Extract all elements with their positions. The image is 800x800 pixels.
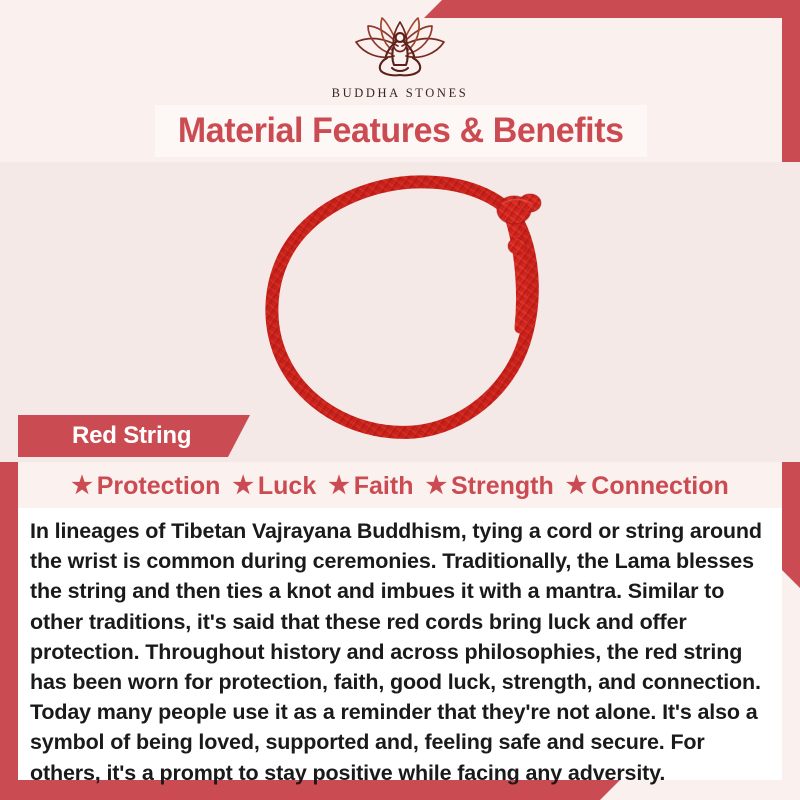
benefit-item-faith: ★ Faith xyxy=(323,472,418,501)
description-panel: In lineages of Tibetan Vajrayana Buddhis… xyxy=(18,508,782,780)
page-title: Material Features & Benefits xyxy=(178,111,624,151)
product-tag: Red String xyxy=(18,415,250,457)
benefit-item-luck: ★ Luck xyxy=(227,472,321,501)
star-icon: ★ xyxy=(232,474,254,498)
benefit-label: Connection xyxy=(591,472,729,501)
star-icon: ★ xyxy=(425,474,447,498)
benefits-strip: ★ Protection ★ Luck ★ Faith ★ Strength ★… xyxy=(18,464,782,508)
benefit-item-connection: ★ Connection xyxy=(561,472,734,501)
poster-canvas: BUDDHA STONES Material Features & Benefi… xyxy=(0,0,800,800)
benefit-item-protection: ★ Protection xyxy=(66,472,225,501)
red-string-bracelet-image xyxy=(262,170,580,448)
benefit-label: Faith xyxy=(354,472,414,501)
lotus-meditation-icon xyxy=(340,16,460,84)
brand-name: BUDDHA STONES xyxy=(0,86,800,101)
star-icon: ★ xyxy=(71,474,93,498)
star-icon: ★ xyxy=(328,474,350,498)
brand-logo: BUDDHA STONES xyxy=(0,16,800,101)
benefit-item-strength: ★ Strength xyxy=(420,472,558,501)
title-banner: Material Features & Benefits xyxy=(155,105,647,157)
benefit-label: Luck xyxy=(258,472,316,501)
description-text: In lineages of Tibetan Vajrayana Buddhis… xyxy=(30,516,764,788)
benefit-label: Protection xyxy=(97,472,221,501)
star-icon: ★ xyxy=(566,474,588,498)
product-tag-label: Red String xyxy=(72,422,191,450)
benefit-label: Strength xyxy=(451,472,554,501)
